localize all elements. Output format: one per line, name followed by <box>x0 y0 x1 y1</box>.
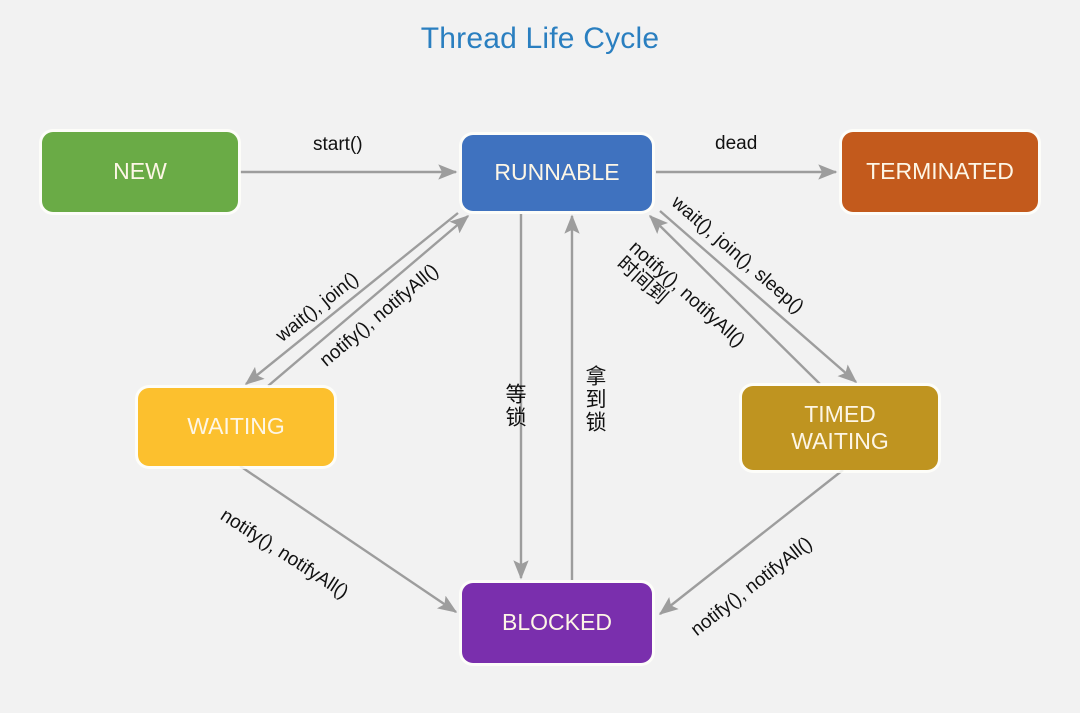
arrow-waiting-to-runnable <box>268 216 468 386</box>
state-node-blocked[interactable]: BLOCKED <box>462 583 652 663</box>
edge-label-dead: dead <box>715 133 757 155</box>
edge-label-wait-lock: 等锁 <box>500 383 530 429</box>
state-label-waiting: WAITING <box>187 413 285 440</box>
state-label-timed-waiting-line1: TIMED <box>804 401 876 428</box>
state-node-terminated[interactable]: TERMINATED <box>842 132 1038 212</box>
state-node-runnable[interactable]: RUNNABLE <box>462 135 652 211</box>
state-label-terminated: TERMINATED <box>866 158 1014 185</box>
arrow-runnable-to-waiting <box>246 213 458 384</box>
state-label-runnable: RUNNABLE <box>494 159 619 186</box>
state-node-timed-waiting[interactable]: TIMED WAITING <box>742 386 938 470</box>
state-label-timed-waiting-line2: WAITING <box>791 428 889 455</box>
state-node-new[interactable]: NEW <box>42 132 238 212</box>
state-label-blocked: BLOCKED <box>502 609 612 636</box>
diagram-canvas: Thread Life Cycle <box>0 0 1080 713</box>
state-node-waiting[interactable]: WAITING <box>138 388 334 466</box>
edge-label-got-lock: 拿到锁 <box>580 365 610 434</box>
state-label-new: NEW <box>113 158 167 185</box>
edge-label-start: start() <box>313 134 363 156</box>
